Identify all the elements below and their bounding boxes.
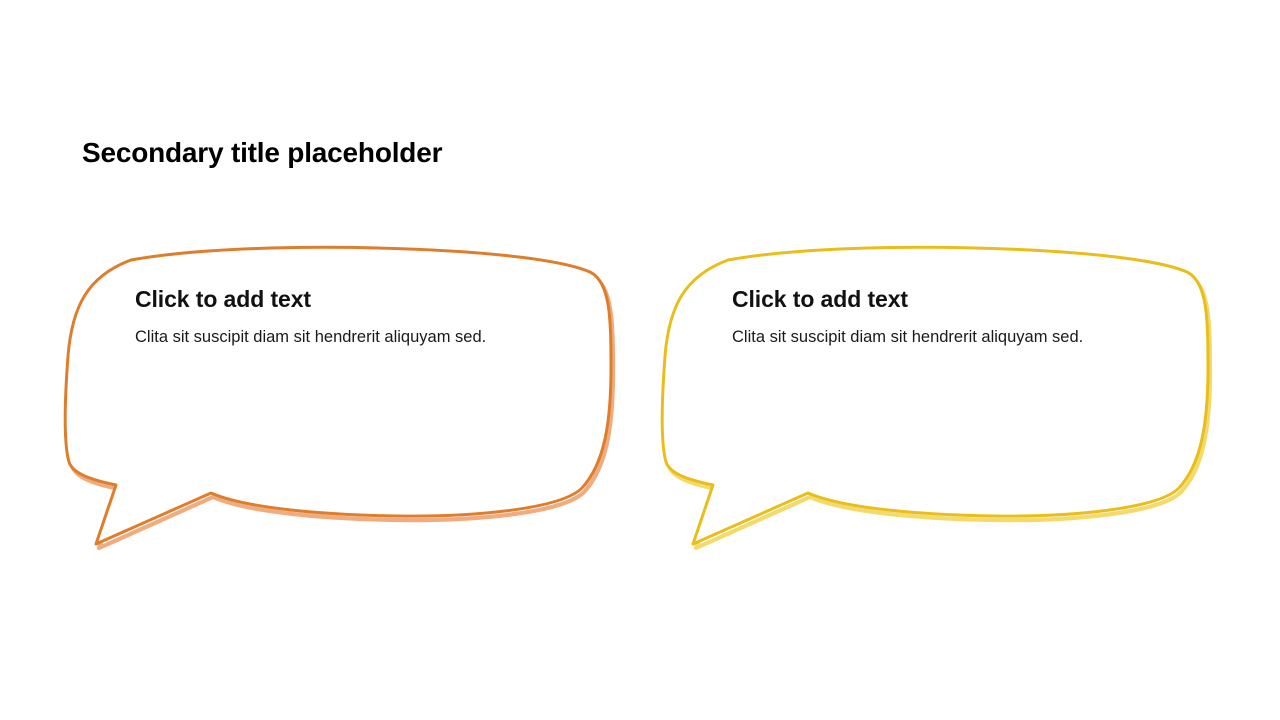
slide-canvas: Secondary title placeholder Click to add… [0, 0, 1280, 720]
callout-left-body[interactable]: Clita sit suscipit diam sit hendrerit al… [135, 326, 575, 348]
callout-shapes-layer [0, 0, 1280, 720]
page-title: Secondary title placeholder [82, 135, 442, 171]
callout-left-text[interactable]: Click to add text Clita sit suscipit dia… [135, 284, 575, 348]
callout-right-heading[interactable]: Click to add text [732, 284, 1172, 314]
callout-left-heading[interactable]: Click to add text [135, 284, 575, 314]
callout-right-body[interactable]: Clita sit suscipit diam sit hendrerit al… [732, 326, 1172, 348]
callout-right-text[interactable]: Click to add text Clita sit suscipit dia… [732, 284, 1172, 348]
